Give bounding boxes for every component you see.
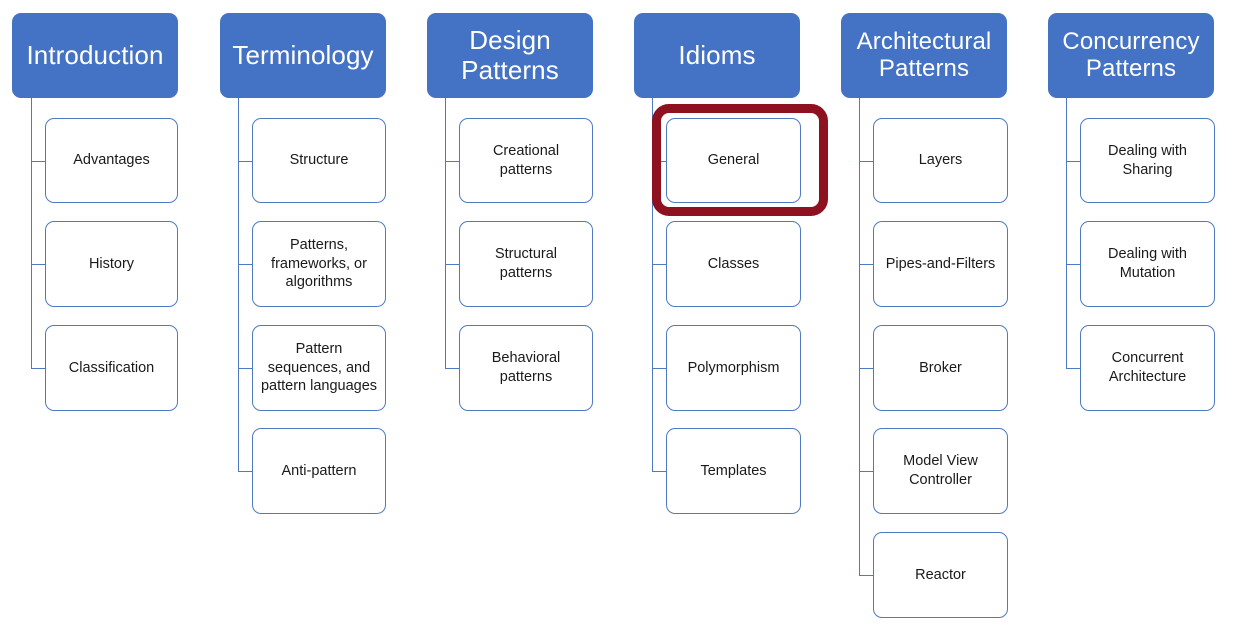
connector-trunk-introduction	[31, 98, 32, 368]
child-node-idioms-3[interactable]: Templates	[666, 428, 801, 514]
child-node-idioms-1[interactable]: Classes	[666, 221, 801, 307]
connector-branch-concurrency-patterns-2	[1066, 368, 1080, 369]
connector-branch-architectural-patterns-2	[859, 368, 873, 369]
connector-branch-introduction-0	[31, 161, 45, 162]
connector-trunk-idioms	[652, 98, 653, 471]
root-node-idioms[interactable]: Idioms	[634, 13, 800, 98]
root-node-terminology[interactable]: Terminology	[220, 13, 386, 98]
child-node-terminology-2[interactable]: Pattern sequences, and pattern languages	[252, 325, 386, 411]
connector-branch-design-patterns-0	[445, 161, 459, 162]
connector-branch-idioms-2	[652, 368, 666, 369]
child-node-idioms-0[interactable]: General	[666, 118, 801, 203]
connector-branch-architectural-patterns-4	[859, 575, 873, 576]
child-node-idioms-2[interactable]: Polymorphism	[666, 325, 801, 411]
connector-branch-introduction-1	[31, 264, 45, 265]
child-node-concurrency-patterns-0[interactable]: Dealing with Sharing	[1080, 118, 1215, 203]
child-node-terminology-1[interactable]: Patterns, frameworks, or algorithms	[252, 221, 386, 307]
connector-branch-introduction-2	[31, 368, 45, 369]
connector-branch-architectural-patterns-0	[859, 161, 873, 162]
connector-branch-idioms-0	[652, 161, 666, 162]
child-node-design-patterns-1[interactable]: Structural patterns	[459, 221, 593, 307]
child-node-terminology-3[interactable]: Anti-pattern	[252, 428, 386, 514]
connector-trunk-concurrency-patterns	[1066, 98, 1067, 368]
child-node-terminology-0[interactable]: Structure	[252, 118, 386, 203]
connector-branch-terminology-2	[238, 368, 252, 369]
connector-branch-design-patterns-1	[445, 264, 459, 265]
child-node-architectural-patterns-2[interactable]: Broker	[873, 325, 1008, 411]
connector-branch-architectural-patterns-3	[859, 471, 873, 472]
connector-branch-terminology-3	[238, 471, 252, 472]
root-node-introduction[interactable]: Introduction	[12, 13, 178, 98]
child-node-design-patterns-0[interactable]: Creational patterns	[459, 118, 593, 203]
child-node-introduction-0[interactable]: Advantages	[45, 118, 178, 203]
child-node-concurrency-patterns-1[interactable]: Dealing with Mutation	[1080, 221, 1215, 307]
connector-branch-terminology-0	[238, 161, 252, 162]
child-node-introduction-1[interactable]: History	[45, 221, 178, 307]
connector-branch-design-patterns-2	[445, 368, 459, 369]
connector-branch-concurrency-patterns-0	[1066, 161, 1080, 162]
connector-trunk-architectural-patterns	[859, 98, 860, 575]
connector-branch-architectural-patterns-1	[859, 264, 873, 265]
connector-trunk-design-patterns	[445, 98, 446, 368]
connector-branch-terminology-1	[238, 264, 252, 265]
root-node-concurrency-patterns[interactable]: Concurrency Patterns	[1048, 13, 1214, 98]
child-node-architectural-patterns-3[interactable]: Model View Controller	[873, 428, 1008, 514]
child-node-architectural-patterns-1[interactable]: Pipes-and-Filters	[873, 221, 1008, 307]
child-node-architectural-patterns-0[interactable]: Layers	[873, 118, 1008, 203]
root-node-design-patterns[interactable]: Design Patterns	[427, 13, 593, 98]
child-node-design-patterns-2[interactable]: Behavioral patterns	[459, 325, 593, 411]
child-node-concurrency-patterns-2[interactable]: Concurrent Architecture	[1080, 325, 1215, 411]
root-node-architectural-patterns[interactable]: Architectural Patterns	[841, 13, 1007, 98]
child-node-architectural-patterns-4[interactable]: Reactor	[873, 532, 1008, 618]
connector-branch-idioms-3	[652, 471, 666, 472]
mindmap-diagram: IntroductionAdvantagesHistoryClassificat…	[0, 0, 1233, 627]
connector-branch-idioms-1	[652, 264, 666, 265]
child-node-introduction-2[interactable]: Classification	[45, 325, 178, 411]
connector-branch-concurrency-patterns-1	[1066, 264, 1080, 265]
connector-trunk-terminology	[238, 98, 239, 471]
